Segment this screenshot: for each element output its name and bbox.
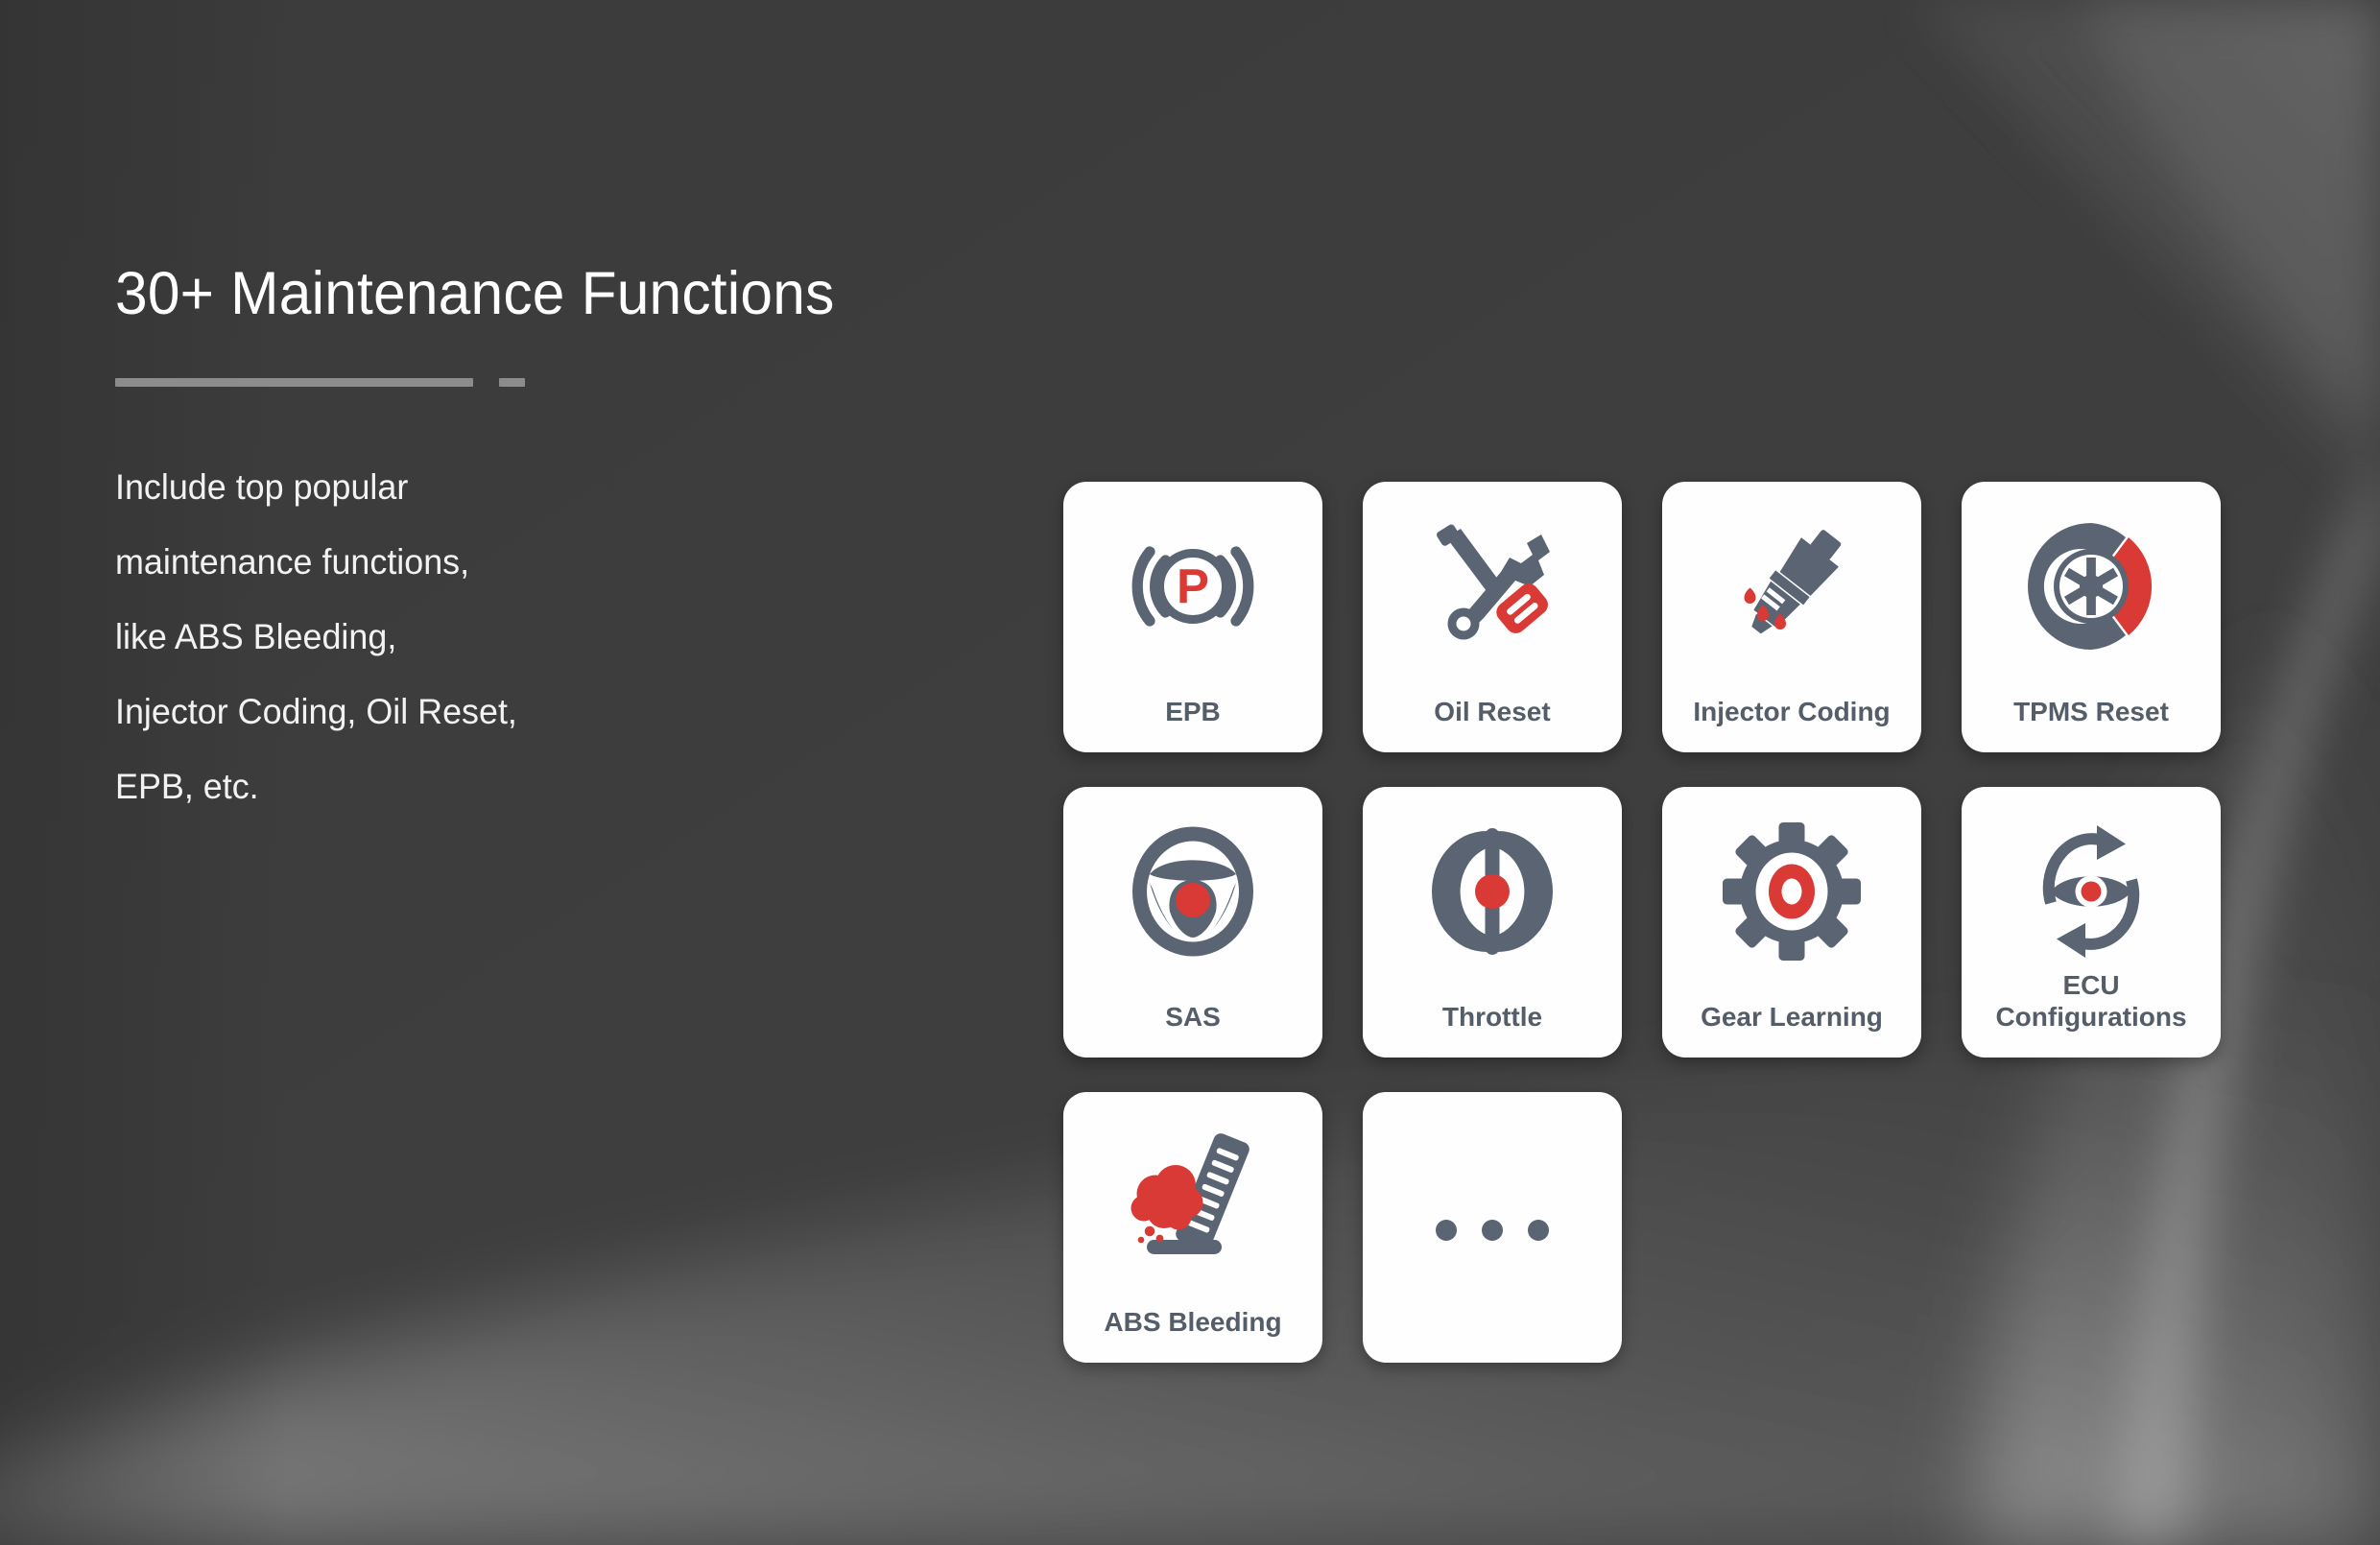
more-dots-icon [1436,1220,1549,1241]
throttle-body-icon [1420,820,1564,963]
svg-text:P: P [1177,559,1209,614]
divider-bar-long [115,378,473,387]
brake-pad-splash-icon [1121,1125,1265,1269]
left-text-column: 30+ Maintenance Functions Include top po… [115,261,979,824]
slide-root: 30+ Maintenance Functions Include top po… [0,0,2380,1545]
dot-2 [1482,1220,1503,1241]
card-label: ECU Configurations [1950,969,2232,1033]
maintenance-function-grid: P EPB [1063,482,2301,1363]
card-label: EPB [1052,696,1334,727]
card-label: Oil Reset [1351,696,1633,727]
divider-bar-short [499,378,525,387]
function-card-throttle[interactable]: Throttle [1363,787,1622,1058]
card-label: SAS [1052,1001,1334,1033]
function-card-more[interactable] [1363,1092,1622,1363]
dot-3 [1528,1220,1549,1241]
function-card-abs-bleeding[interactable]: ABS Bleeding [1063,1092,1322,1363]
body-line-2: maintenance functions, [115,525,953,600]
function-card-ecu-configurations[interactable]: ECU Configurations [1962,787,2221,1058]
function-card-injector-coding[interactable]: Injector Coding [1662,482,1921,752]
body-line-3: like ABS Bleeding, [115,600,953,675]
body-copy: Include top popular maintenance function… [115,450,953,824]
function-card-gear-learning[interactable]: Gear Learning [1662,787,1921,1058]
card-label: Injector Coding [1651,696,1933,727]
page-title: 30+ Maintenance Functions [115,261,944,327]
divider-gap [473,378,499,387]
body-line-4: Injector Coding, Oil Reset, [115,675,953,749]
function-card-epb[interactable]: P EPB [1063,482,1322,752]
gear-icon [1720,820,1864,963]
steering-wheel-icon [1121,820,1265,963]
epb-brake-icon: P [1121,514,1265,658]
card-label: ABS Bleeding [1052,1306,1334,1338]
body-line-1: Include top popular [115,450,953,525]
tire-wheel-icon [2019,514,2163,658]
title-divider [115,377,979,387]
dot-1 [1436,1220,1457,1241]
function-card-tpms-reset[interactable]: TPMS Reset [1962,482,2221,752]
body-line-5: EPB, etc. [115,749,953,824]
eye-refresh-icon [2019,820,2163,963]
fuel-injector-icon [1720,514,1864,658]
card-label: Gear Learning [1651,1001,1933,1033]
wrench-screwdriver-icon [1420,514,1564,658]
function-card-oil-reset[interactable]: Oil Reset [1363,482,1622,752]
function-card-sas[interactable]: SAS [1063,787,1322,1058]
card-label: Throttle [1351,1001,1633,1033]
card-label: TPMS Reset [1950,696,2232,727]
